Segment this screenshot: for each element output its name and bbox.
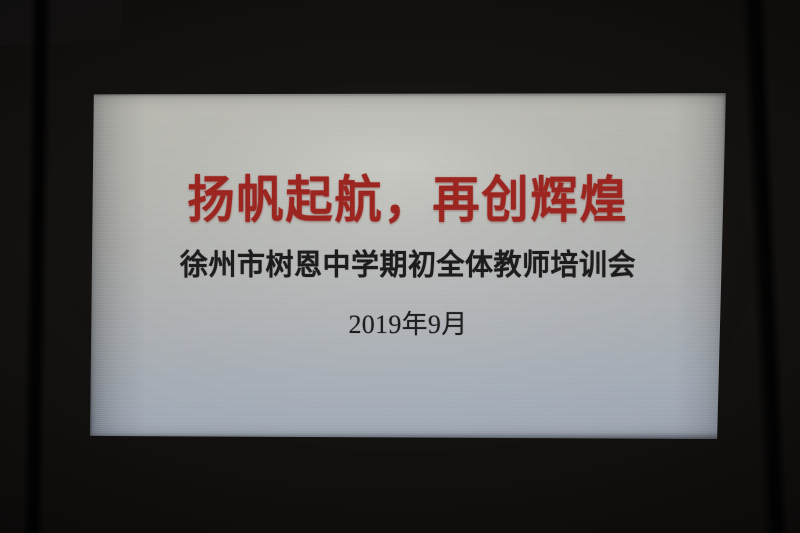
ceiling-corner-shadow [0, 0, 122, 46]
slide-subtitle: 徐州市树恩中学期初全体教师培训会 [90, 242, 726, 284]
slide-date: 2019年9月 [90, 304, 726, 341]
screen-cool-colorcast [90, 280, 726, 439]
projector-hotspot [192, 100, 586, 225]
projection-screen: 扬帆起航，再创辉煌 徐州市树恩中学期初全体教师培训会 2019年9月 [90, 93, 726, 439]
projected-slide-photo: 扬帆起航，再创辉煌 徐州市树恩中学期初全体教师培训会 2019年9月 [0, 0, 800, 533]
screen-inner-rim [90, 93, 726, 439]
screen-left-shading [90, 93, 147, 439]
photo-grain-overlay [90, 93, 726, 439]
screen-right-shading [675, 93, 726, 439]
slide-title: 扬帆起航，再创辉煌 [90, 159, 726, 232]
